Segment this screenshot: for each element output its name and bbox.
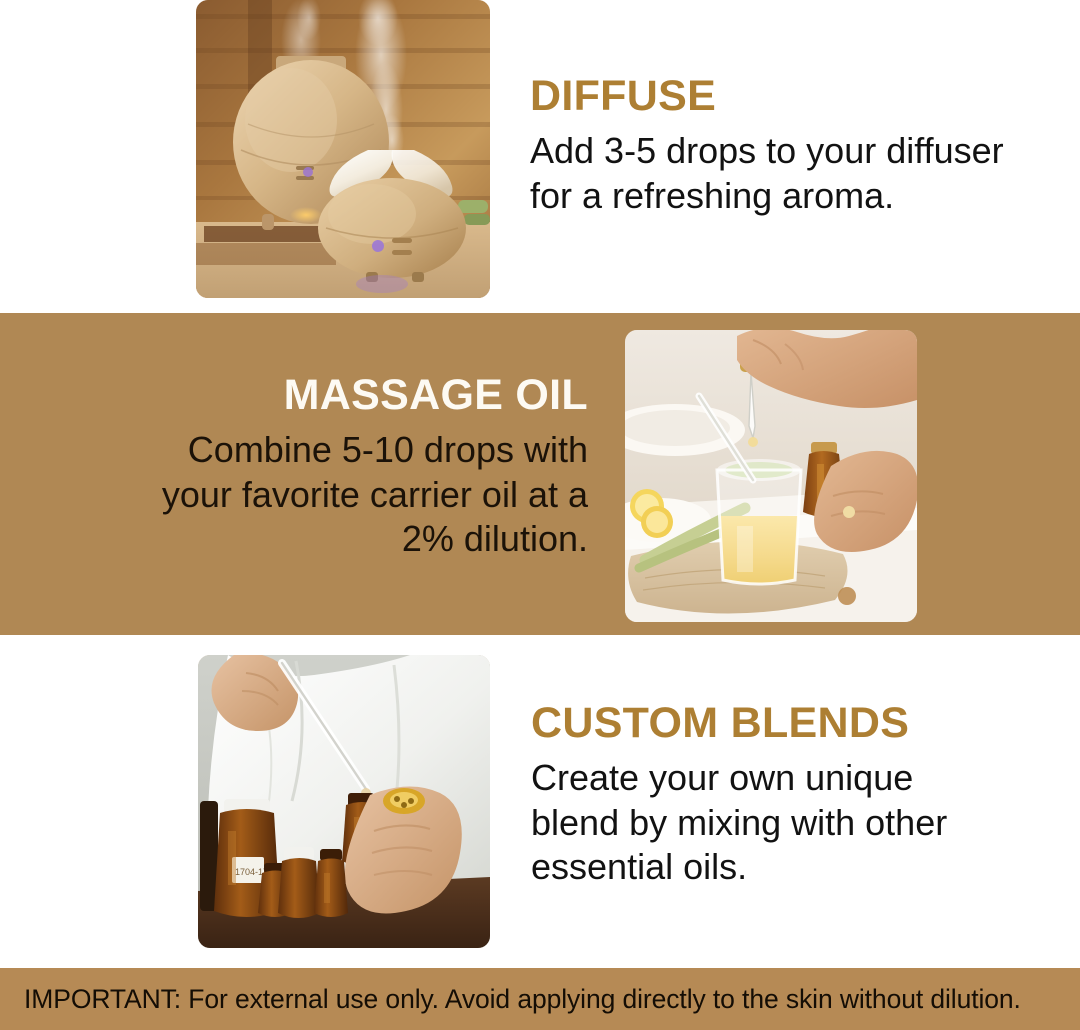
diffuse-body-line-1: Add 3-5 drops to your diffuser — [530, 129, 1030, 174]
massage-oil-heading: MASSAGE OIL — [120, 373, 588, 418]
massage-oil-photo — [625, 330, 917, 622]
section-custom-blends: 1704-171 CUSTOM BLENDS — [0, 635, 1080, 968]
diffuse-body-line-2: for a refreshing aroma. — [530, 174, 1030, 219]
massage-oil-body-line-3: 2% dilution. — [120, 517, 588, 562]
custom-blends-heading: CUSTOM BLENDS — [531, 701, 1001, 746]
custom-blends-photo: 1704-171 — [198, 655, 490, 948]
diffuser-photo — [196, 0, 490, 298]
massage-oil-body-line-2: your favorite carrier oil at a — [120, 473, 588, 518]
massage-oil-body-line-1: Combine 5-10 drops with — [120, 428, 588, 473]
custom-blends-text-block: CUSTOM BLENDS Create your own unique ble… — [531, 701, 1001, 890]
custom-blends-body-line-2: blend by mixing with other — [531, 801, 1001, 846]
section-massage-oil: MASSAGE OIL Combine 5-10 drops with your… — [0, 313, 1080, 635]
diffuse-heading: DIFFUSE — [530, 74, 1030, 119]
custom-blends-body-line-3: essential oils. — [531, 845, 1001, 890]
disclaimer-text: IMPORTANT: For external use only. Avoid … — [0, 984, 1021, 1015]
diffuse-text-block: DIFFUSE Add 3-5 drops to your diffuser f… — [530, 74, 1030, 218]
massage-oil-text-block: MASSAGE OIL Combine 5-10 drops with your… — [120, 373, 588, 562]
infographic-page: DIFFUSE Add 3-5 drops to your diffuser f… — [0, 0, 1080, 1030]
custom-blends-body-line-1: Create your own unique — [531, 756, 1001, 801]
disclaimer-bar: IMPORTANT: For external use only. Avoid … — [0, 968, 1080, 1030]
section-diffuse: DIFFUSE Add 3-5 drops to your diffuser f… — [0, 0, 1080, 313]
